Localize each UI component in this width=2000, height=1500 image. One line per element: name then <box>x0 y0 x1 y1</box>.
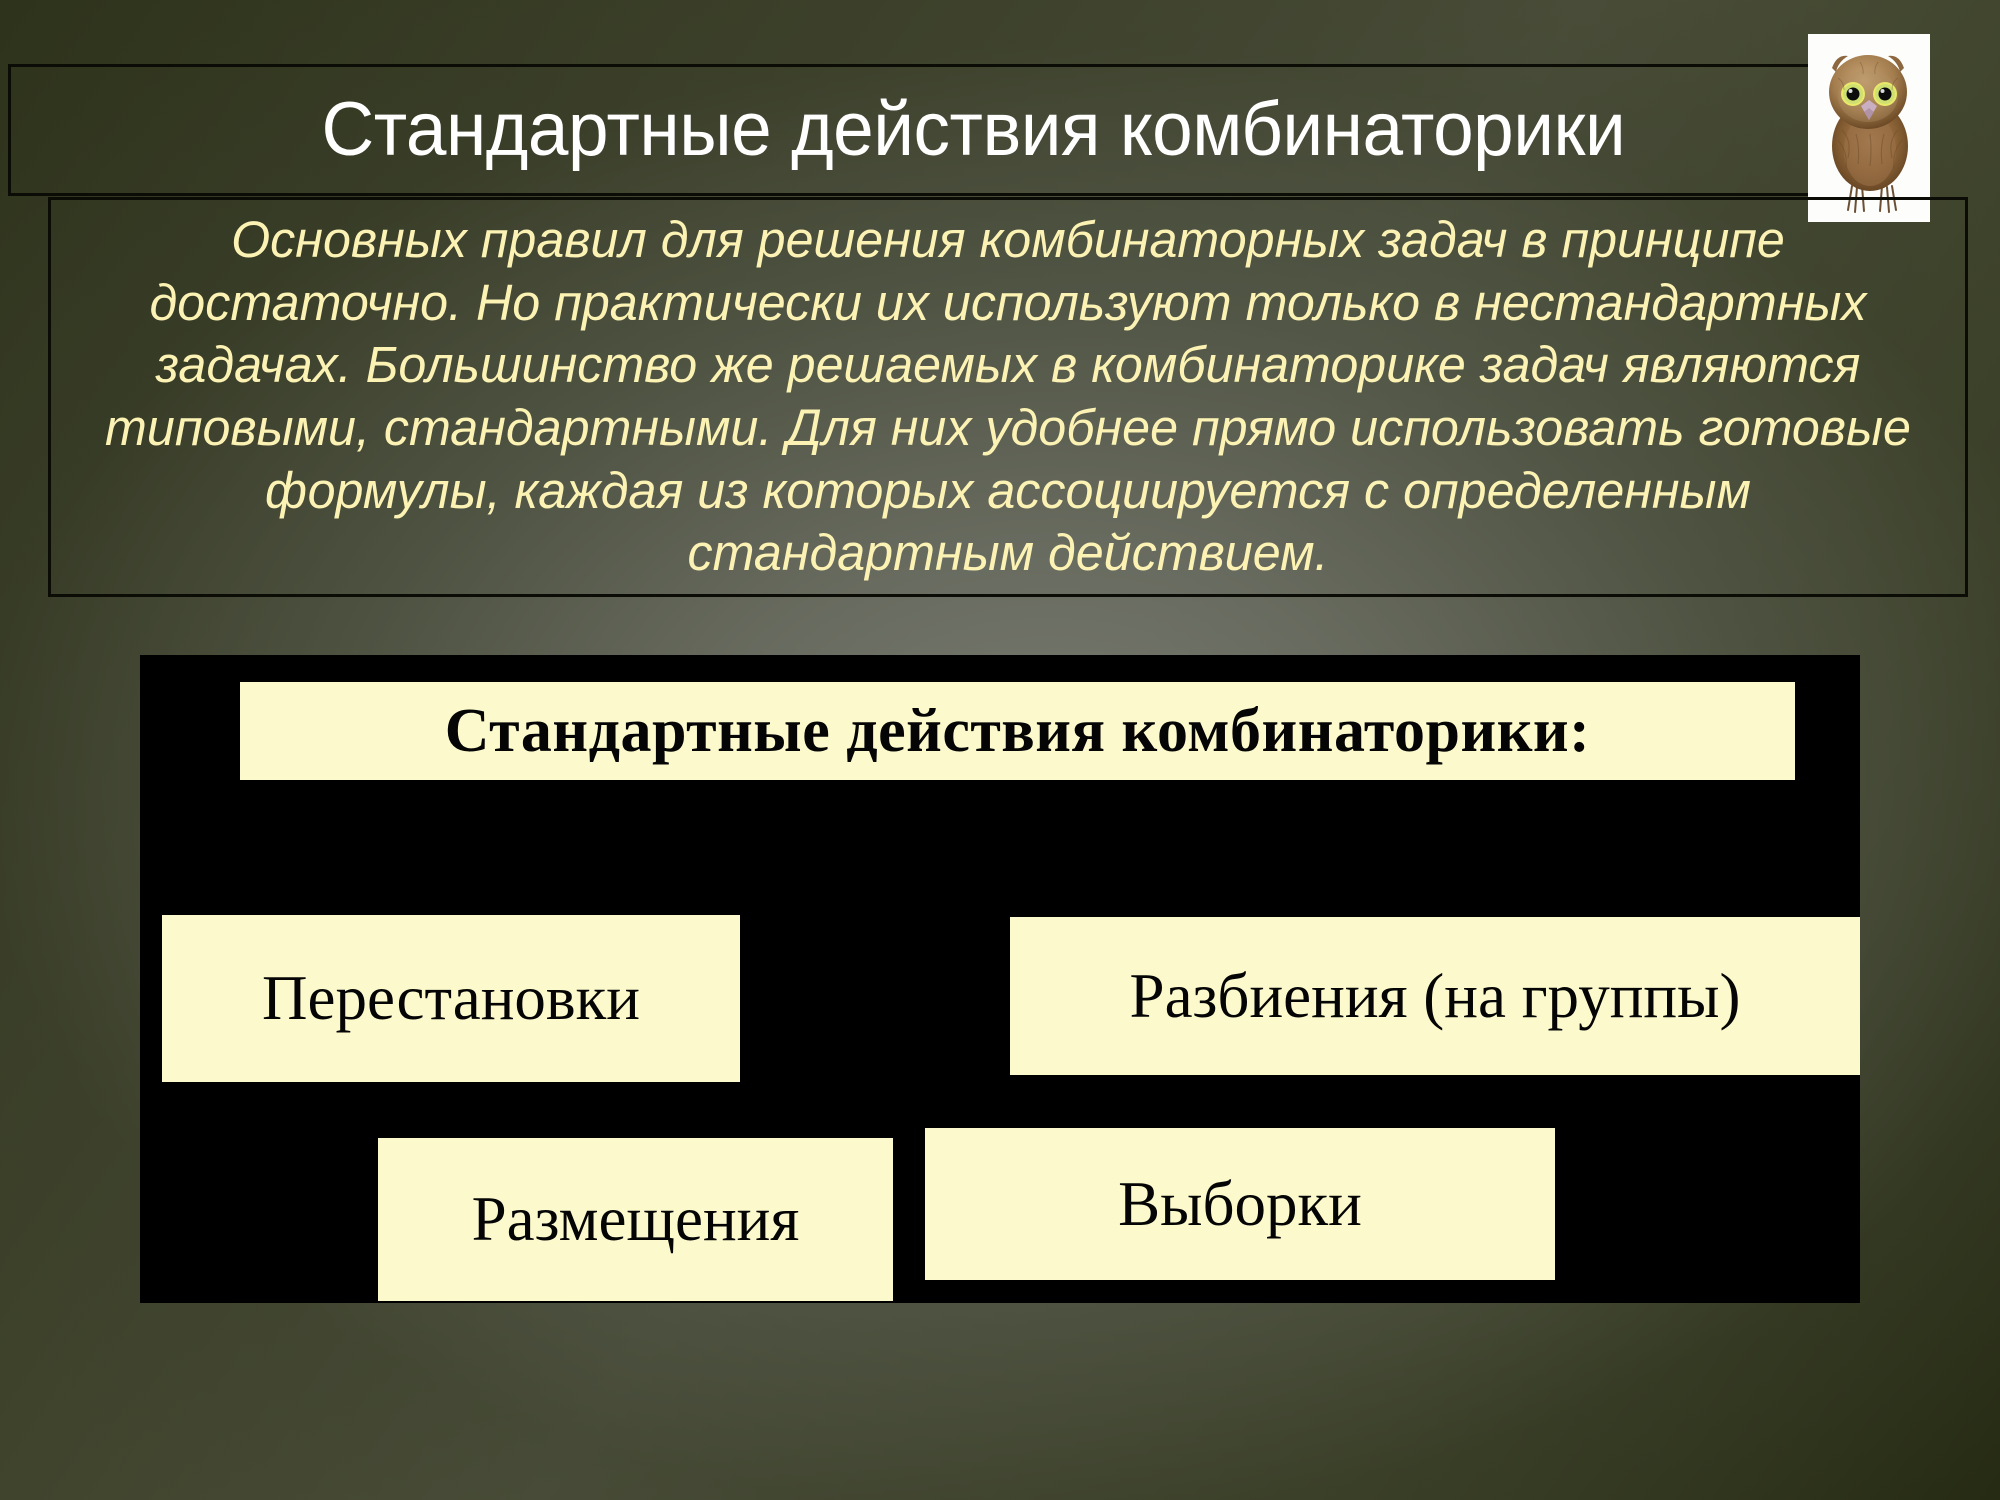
diagram-panel: Стандартные действия комбинаторики: Пере… <box>140 655 1860 1303</box>
owl-illustration <box>1808 34 1930 222</box>
diagram-header: Стандартные действия комбинаторики: <box>240 682 1795 780</box>
slide-body-box: Основных правил для решения комбинаторны… <box>48 197 1968 597</box>
slide-body-text: Основных правил для решения комбинаторны… <box>65 209 1950 585</box>
diagram-item-arrangements[interactable]: Размещения <box>378 1138 893 1301</box>
diagram-item-partitions[interactable]: Разбиения (на группы) <box>1010 917 1860 1075</box>
slide-canvas: Стандартные действия комбинаторики <box>0 0 2000 1500</box>
diagram-item-permutations[interactable]: Перестановки <box>162 915 740 1082</box>
slide-title: Стандартные действия комбинаторики <box>293 92 1625 168</box>
owl-icon <box>1808 34 1930 222</box>
diagram-item-samples[interactable]: Выборки <box>925 1128 1555 1280</box>
slide-title-box: Стандартные действия комбинаторики <box>8 64 1910 196</box>
